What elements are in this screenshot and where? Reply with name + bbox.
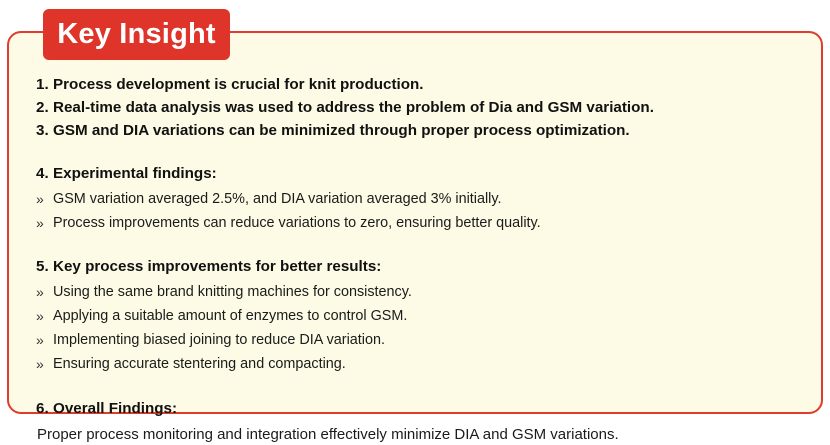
list-item: » GSM variation averaged 2.5%, and DIA v… (36, 189, 814, 209)
section-spacer (36, 237, 814, 256)
key-insight-callout: Key Insight 1. Process development is cr… (0, 0, 830, 425)
list-item: 3. GSM and DIA variations can be minimiz… (36, 120, 814, 141)
callout-content: 1. Process development is crucial for kn… (36, 74, 814, 445)
section-heading-text: Key process improvements for better resu… (53, 256, 814, 277)
list-item-text: Process improvements can reduce variatio… (53, 213, 814, 233)
list-item: » Implementing biased joining to reduce … (36, 330, 814, 350)
list-item: » Process improvements can reduce variat… (36, 213, 814, 233)
list-item: 2. Real-time data analysis was used to a… (36, 97, 814, 118)
section-spacer (36, 143, 814, 163)
section-marker: 4. (36, 163, 53, 184)
list-item-text: Using the same brand knitting machines f… (53, 282, 814, 302)
section-spacer (36, 378, 814, 398)
section-marker: 6. (36, 398, 53, 419)
list-item: » Applying a suitable amount of enzymes … (36, 306, 814, 326)
section-heading-text: Experimental findings: (53, 163, 814, 184)
bullet-icon: » (36, 330, 53, 350)
bullet-icon: » (36, 306, 53, 326)
list-item-text: GSM variation averaged 2.5%, and DIA var… (53, 189, 814, 209)
list-item-text: Ensuring accurate stentering and compact… (53, 354, 814, 374)
section-heading-findings: 4. Experimental findings: (36, 163, 814, 184)
section-heading-improvements: 5. Key process improvements for better r… (36, 256, 814, 277)
bullet-icon: » (36, 282, 53, 302)
list-item: » Ensuring accurate stentering and compa… (36, 354, 814, 374)
section-heading-overall: 6. Overall Findings: (36, 398, 814, 419)
list-item-text: Real-time data analysis was used to addr… (53, 97, 814, 118)
bullet-icon: » (36, 354, 53, 374)
overall-findings-body: Proper process monitoring and integratio… (36, 424, 814, 445)
list-marker: 1. (36, 74, 53, 95)
list-item-text: GSM and DIA variations can be minimized … (53, 120, 814, 141)
badge-title: Key Insight (57, 20, 216, 49)
bullet-icon: » (36, 189, 53, 209)
list-marker: 2. (36, 97, 53, 118)
list-item-text: Implementing biased joining to reduce DI… (53, 330, 814, 350)
list-item: 1. Process development is crucial for kn… (36, 74, 814, 95)
key-insight-badge: Key Insight (43, 9, 230, 60)
list-marker: 3. (36, 120, 53, 141)
section-marker: 5. (36, 256, 53, 277)
list-item-text: Applying a suitable amount of enzymes to… (53, 306, 814, 326)
list-item-text: Process development is crucial for knit … (53, 74, 814, 95)
section-heading-text: Overall Findings: (53, 398, 814, 419)
bullet-icon: » (36, 213, 53, 233)
list-item: » Using the same brand knitting machines… (36, 282, 814, 302)
